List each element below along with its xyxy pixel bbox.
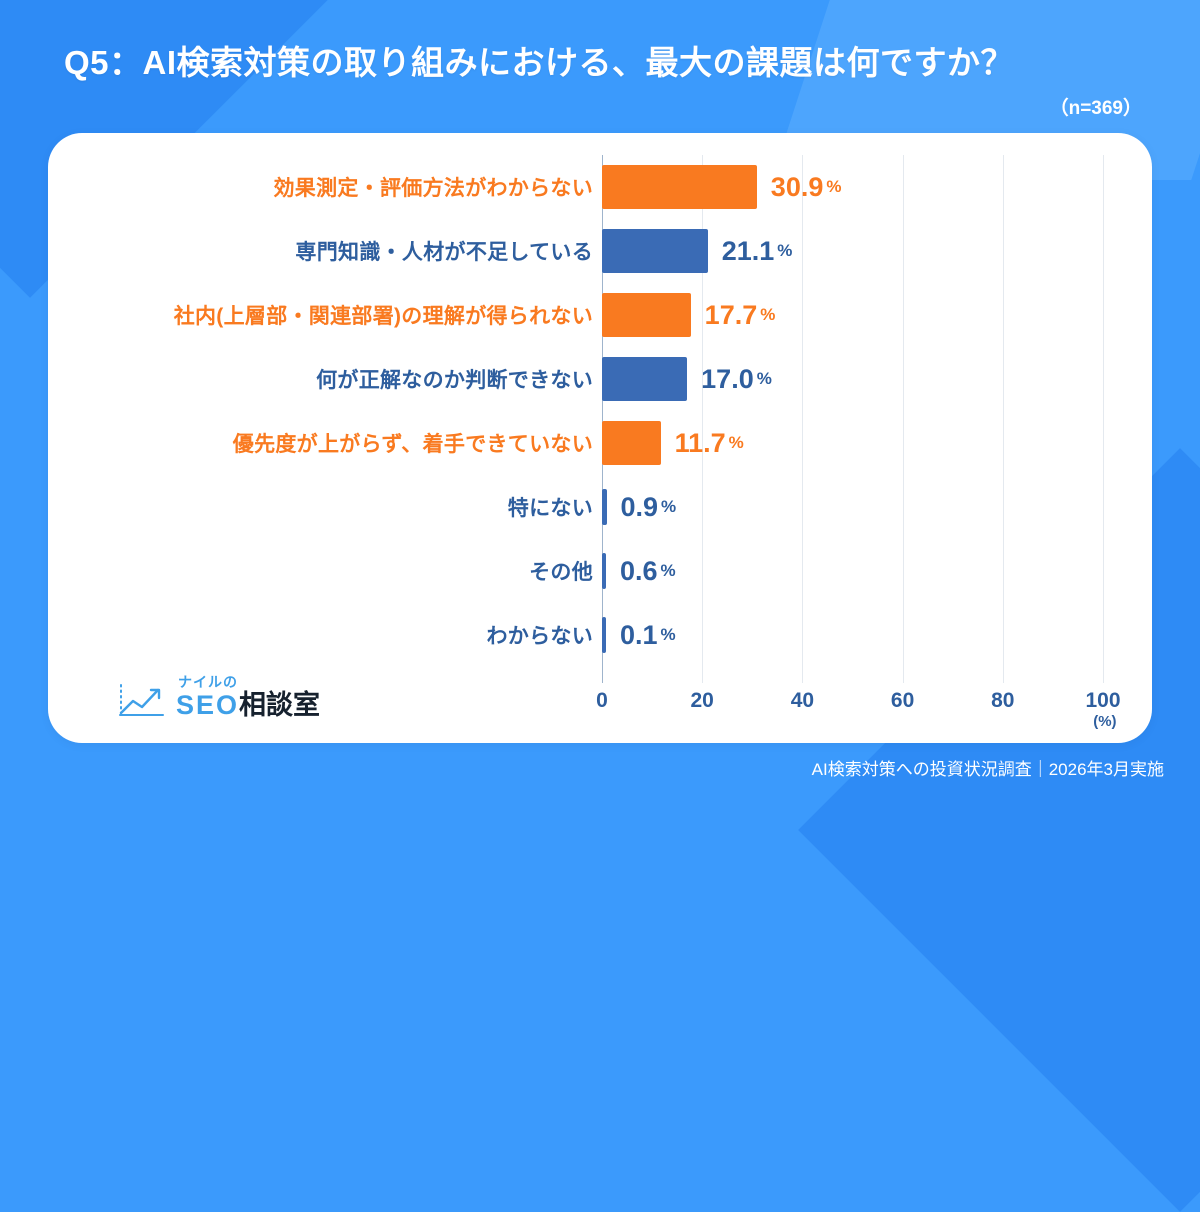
- bar-value-label: 0.6%: [620, 539, 676, 603]
- percent-sign: %: [757, 369, 772, 389]
- chart-row: 特にない0.9%: [48, 475, 1152, 539]
- category-label: 効果測定・評価方法がわからない: [274, 155, 594, 219]
- category-label: 専門知識・人材が不足している: [295, 219, 593, 283]
- bar-value-number: 30.9: [771, 172, 824, 203]
- x-tick-20: 20: [691, 689, 714, 713]
- bar: [602, 489, 607, 525]
- percent-sign: %: [729, 433, 744, 453]
- chart-rows: 効果測定・評価方法がわからない30.9%専門知識・人材が不足している21.1%社…: [48, 133, 1152, 661]
- logo-soudanshitsu: 相談室: [239, 690, 320, 720]
- x-tick-40: 40: [791, 689, 814, 713]
- bar-value-number: 0.1: [620, 620, 658, 651]
- line-chart-icon: [116, 679, 168, 719]
- bar-value-label: 21.1%: [722, 219, 793, 283]
- bar-chart: 効果測定・評価方法がわからない30.9%専門知識・人材が不足している21.1%社…: [48, 133, 1152, 743]
- bar: [602, 617, 606, 653]
- bar-value-label: 0.1%: [620, 603, 676, 667]
- chart-row: 優先度が上がらず、着手できていない11.7%: [48, 411, 1152, 475]
- category-label: 特にない: [508, 475, 593, 539]
- brand-logo: ナイルの SEO相談室: [116, 675, 320, 719]
- bar-value-label: 17.7%: [705, 283, 776, 347]
- bar-value-number: 0.9: [621, 492, 659, 523]
- category-label: その他: [529, 539, 593, 603]
- bar: [602, 229, 708, 273]
- percent-sign: %: [661, 561, 676, 581]
- bar-value-label: 17.0%: [701, 347, 772, 411]
- chart-card: 効果測定・評価方法がわからない30.9%専門知識・人材が不足している21.1%社…: [48, 133, 1152, 743]
- chart-row: 効果測定・評価方法がわからない30.9%: [48, 155, 1152, 219]
- x-axis-ticks: 020406080100: [602, 689, 1103, 719]
- bar: [602, 293, 691, 337]
- logo-seo: SEO: [176, 690, 239, 720]
- x-tick-100: 100: [1085, 689, 1120, 713]
- bar-value-number: 11.7: [675, 428, 726, 459]
- chart-row: 専門知識・人材が不足している21.1%: [48, 219, 1152, 283]
- bar: [602, 165, 757, 209]
- header: Q5：AI検索対策の取り組みにおける、最大の課題は何ですか？ （n=369）: [0, 0, 1200, 133]
- logo-kana: ナイルの: [178, 675, 320, 689]
- logo-text: ナイルの SEO相談室: [176, 675, 320, 719]
- chart-row: わからない0.1%: [48, 603, 1152, 667]
- percent-sign: %: [760, 305, 775, 325]
- x-tick-80: 80: [991, 689, 1014, 713]
- x-tick-0: 0: [596, 689, 608, 713]
- category-label: 何が正解なのか判断できない: [316, 347, 593, 411]
- percent-sign: %: [661, 625, 676, 645]
- category-label: わからない: [487, 603, 594, 667]
- percent-sign: %: [661, 497, 676, 517]
- bar-value-number: 17.7: [705, 300, 758, 331]
- bar: [602, 357, 687, 401]
- percent-sign: %: [777, 241, 792, 261]
- bar-value-label: 0.9%: [621, 475, 677, 539]
- bar-value-label: 30.9%: [771, 155, 842, 219]
- logo-main: SEO相談室: [176, 692, 320, 719]
- bar-value-number: 0.6: [620, 556, 658, 587]
- x-axis-unit-label: (%): [1093, 713, 1116, 730]
- bar-value-number: 17.0: [701, 364, 754, 395]
- bar-value-label: 11.7%: [675, 411, 744, 475]
- footer-note: AI検索対策への投資状況調査｜2026年3月実施: [812, 755, 1164, 780]
- chart-row: 社内(上層部・関連部署)の理解が得られない17.7%: [48, 283, 1152, 347]
- chart-row: 何が正解なのか判断できない17.0%: [48, 347, 1152, 411]
- x-tick-60: 60: [891, 689, 914, 713]
- chart-row: その他0.6%: [48, 539, 1152, 603]
- bar: [602, 553, 606, 589]
- percent-sign: %: [826, 177, 841, 197]
- page-title: Q5：AI検索対策の取り組みにおける、最大の課題は何ですか？: [64, 36, 1014, 84]
- category-label: 優先度が上がらず、着手できていない: [233, 411, 593, 475]
- bar: [602, 421, 661, 465]
- category-label: 社内(上層部・関連部署)の理解が得られない: [174, 283, 593, 347]
- sample-size-label: （n=369）: [1050, 93, 1142, 120]
- bar-value-number: 21.1: [722, 236, 775, 267]
